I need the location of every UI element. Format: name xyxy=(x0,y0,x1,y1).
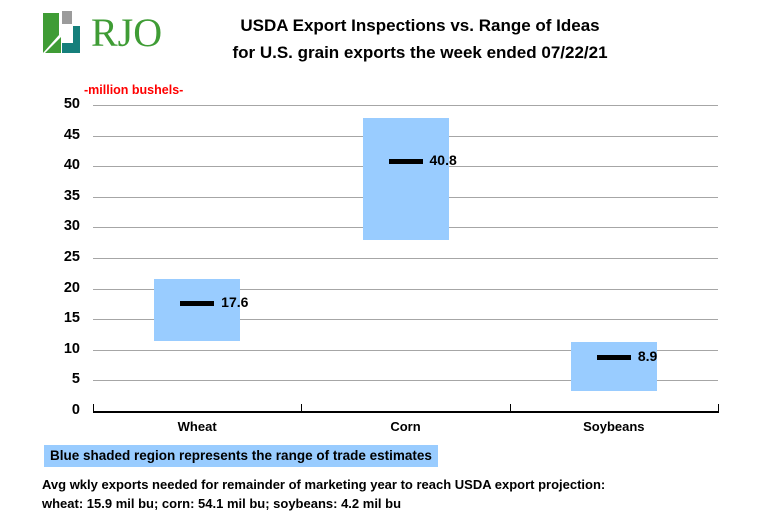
range-bar xyxy=(363,118,449,239)
rjo-logo-icon xyxy=(41,9,89,57)
x-axis-category-label: Corn xyxy=(346,419,466,434)
y-axis-tick-label: 10 xyxy=(40,341,80,357)
y-axis-units-label: -million bushels- xyxy=(84,83,183,97)
y-axis-tick-label: 45 xyxy=(40,127,80,143)
y-axis-tick-label: 50 xyxy=(40,96,80,112)
inspection-marker xyxy=(180,301,214,306)
value-label: 17.6 xyxy=(221,294,248,310)
y-axis-tick-label: 40 xyxy=(40,157,80,173)
plot-area: 17.640.88.9 xyxy=(93,105,718,411)
y-axis-tick-label: 20 xyxy=(40,280,80,296)
chart-title: USDA Export Inspections vs. Range of Ide… xyxy=(170,12,670,66)
y-axis-tick-label: 35 xyxy=(40,188,80,204)
y-axis-tick-label: 0 xyxy=(40,402,80,418)
y-axis-tick-label: 15 xyxy=(40,310,80,326)
inspection-marker xyxy=(389,159,423,164)
x-axis-tick xyxy=(301,404,302,412)
chart-title-line-2: for U.S. grain exports the week ended 07… xyxy=(170,39,670,66)
footnote-line-2: wheat: 15.9 mil bu; corn: 54.1 mil bu; s… xyxy=(42,494,605,513)
footnote: Avg wkly exports needed for remainder of… xyxy=(42,475,605,513)
x-axis-line xyxy=(93,411,719,413)
rjo-logo: RJO xyxy=(41,9,153,57)
legend-note: Blue shaded region represents the range … xyxy=(44,445,438,467)
footnote-line-1: Avg wkly exports needed for remainder of… xyxy=(42,475,605,494)
gridline xyxy=(93,105,718,106)
x-axis-category-label: Soybeans xyxy=(554,419,674,434)
x-axis-tick xyxy=(93,404,94,412)
rjo-wordmark: RJO xyxy=(91,11,162,55)
y-axis-tick-label: 5 xyxy=(40,371,80,387)
value-label: 8.9 xyxy=(638,348,657,364)
y-axis-tick-label: 30 xyxy=(40,218,80,234)
x-axis-category-label: Wheat xyxy=(137,419,257,434)
value-label: 40.8 xyxy=(430,152,457,168)
chart-title-line-1: USDA Export Inspections vs. Range of Ide… xyxy=(170,12,670,39)
x-axis-tick xyxy=(718,404,719,412)
x-axis-tick xyxy=(510,404,511,412)
gridline xyxy=(93,258,718,259)
inspection-marker xyxy=(597,355,631,360)
y-axis-tick-label: 25 xyxy=(40,249,80,265)
